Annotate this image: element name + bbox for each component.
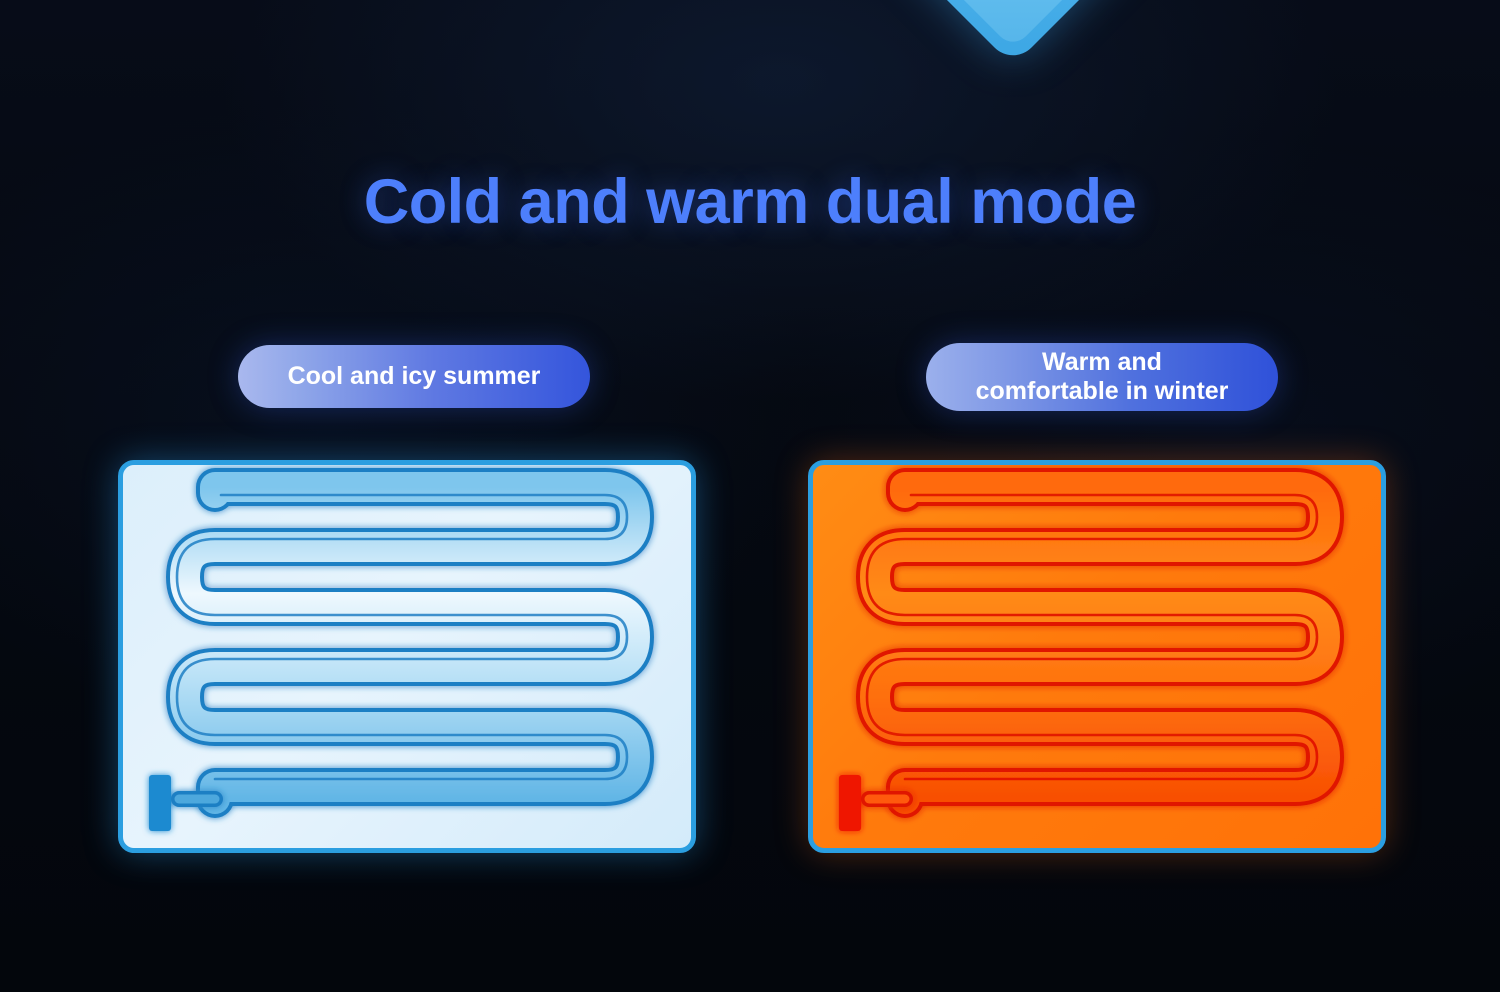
cooling-connector-terminal (149, 775, 171, 831)
mode-badge-warm[interactable]: Warm and comfortable in winter (926, 343, 1278, 411)
cooling-coil-diagram (123, 465, 691, 848)
heating-connector-terminal (839, 775, 861, 831)
mode-badge-warm-label: Warm and comfortable in winter (976, 348, 1229, 406)
mode-badge-warm-label-line1: Warm and (1042, 348, 1162, 376)
heating-coil-diagram (813, 465, 1381, 848)
cooling-coil-panel (118, 460, 696, 853)
page-title: Cold and warm dual mode (0, 166, 1500, 238)
heating-coil-panel (808, 460, 1386, 853)
mode-badge-cool[interactable]: Cool and icy summer (238, 345, 590, 408)
page-root: Cold and warm dual mode Cool and icy sum… (0, 0, 1500, 992)
mode-badge-cool-label: Cool and icy summer (288, 362, 541, 391)
mode-badge-warm-label-line2: comfortable in winter (976, 377, 1229, 406)
product-corner-decoration-icon (849, 0, 1177, 66)
